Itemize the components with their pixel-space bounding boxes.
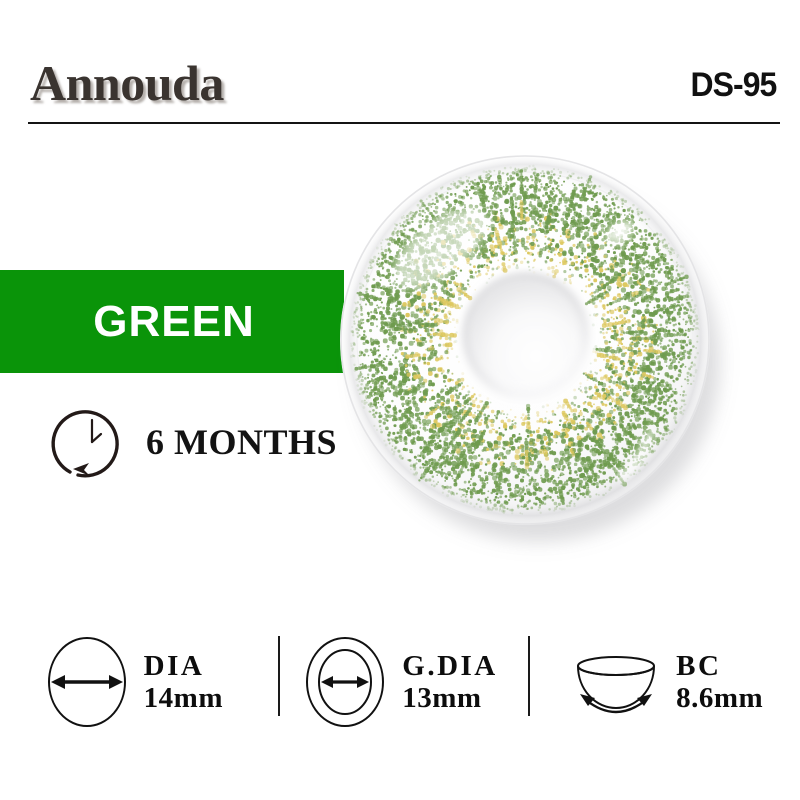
spec-divider-2 — [528, 636, 530, 716]
color-banner-label: GREEN — [89, 300, 254, 344]
spec-gdia-text: G.DIA 13mm — [402, 650, 497, 714]
circle-diameter-arrow-icon — [44, 632, 130, 732]
double-circle-diameter-arrow-icon — [302, 632, 388, 732]
model-code: DS-95 — [690, 68, 776, 102]
spec-divider-1 — [278, 636, 280, 716]
spec-dia-name: DIA — [144, 650, 223, 682]
spec-bc-name: BC — [676, 650, 763, 682]
brand-title: Annouda — [30, 58, 224, 108]
spec-bc-value: 8.6mm — [676, 682, 763, 714]
spec-dia-text: DIA 14mm — [144, 650, 223, 714]
spec-bc-text: BC 8.6mm — [676, 650, 763, 714]
spec-gdia: G.DIA 13mm — [267, 622, 534, 742]
spec-dia: DIA 14mm — [0, 622, 267, 742]
contact-lens-image — [320, 140, 760, 580]
color-banner: GREEN — [0, 270, 344, 373]
spec-row: DIA 14mm G.DIA 13mm — [0, 622, 800, 742]
spec-dia-value: 14mm — [144, 682, 223, 714]
duration-row: 6 MONTHS — [46, 396, 337, 488]
header: Annouda DS-95 — [0, 0, 800, 130]
lens-curve-base-icon — [570, 632, 662, 732]
duration-label: 6 MONTHS — [146, 424, 337, 460]
spec-gdia-name: G.DIA — [402, 650, 497, 682]
clock-rotate-icon — [46, 396, 138, 488]
header-divider — [28, 122, 780, 124]
spec-gdia-value: 13mm — [402, 682, 497, 714]
spec-bc: BC 8.6mm — [533, 622, 800, 742]
product-card: Annouda DS-95 GREEN 6 MONTHS — [0, 0, 800, 800]
